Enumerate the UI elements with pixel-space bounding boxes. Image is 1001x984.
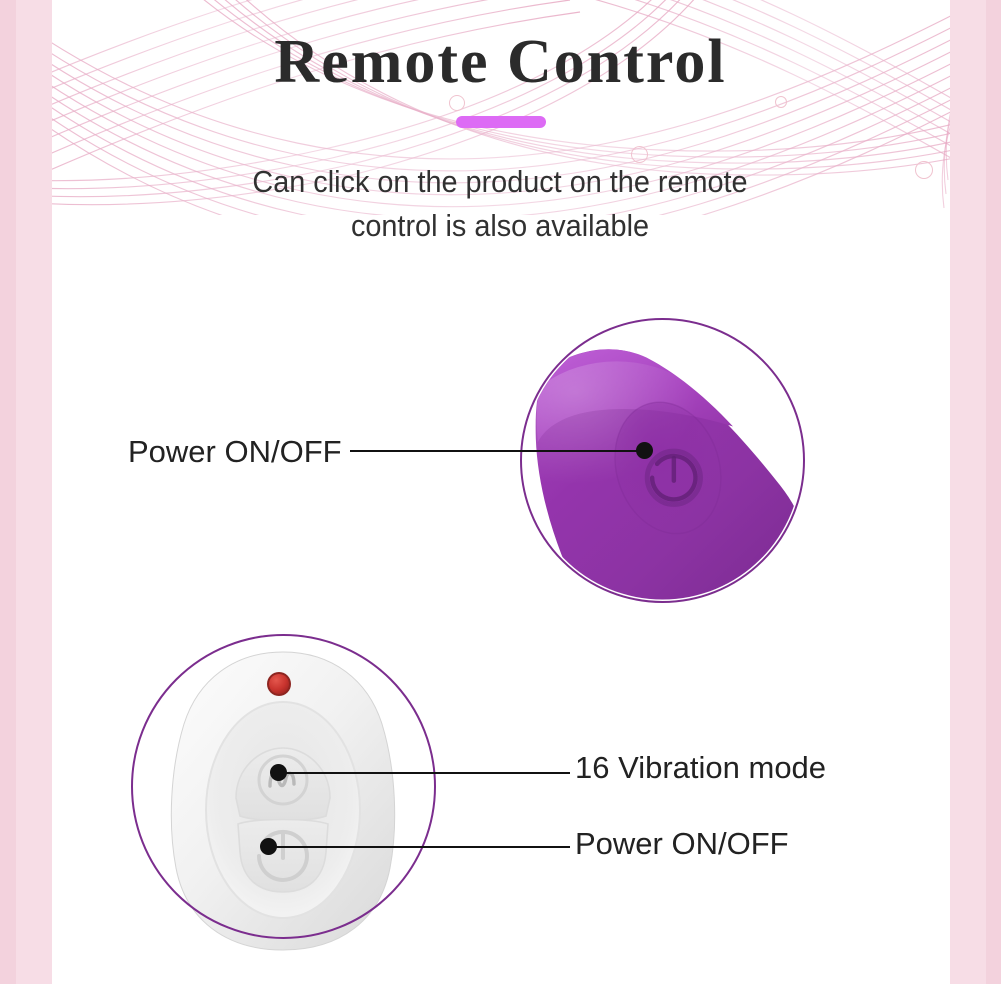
decorative-circle-icon <box>915 161 933 179</box>
callout-leader-line-top <box>350 450 645 452</box>
callout-dot-top <box>636 442 653 459</box>
title-accent-bar <box>456 116 546 128</box>
subtitle-line-1: Can click on the product on the remote <box>175 160 826 204</box>
callout-label-vibration: 16 Vibration mode <box>575 750 826 786</box>
callout-label-power-bottom: Power ON/OFF <box>575 826 789 862</box>
side-band-left-inner <box>0 0 16 984</box>
page-title: Remote Control <box>0 30 1001 95</box>
decorative-circle-icon <box>775 96 787 108</box>
remote-closeup-circle <box>131 634 436 939</box>
callout-leader-line-vibration <box>278 772 570 774</box>
product-closeup-circle <box>520 318 805 603</box>
callout-label-power-top: Power ON/OFF <box>128 434 342 470</box>
page-subtitle: Can click on the product on the remote c… <box>175 160 826 248</box>
side-band-right-inner <box>986 0 1001 984</box>
infographic-slide: Remote Control Can click on the product … <box>0 0 1001 984</box>
callout-dot-power <box>260 838 277 855</box>
callout-dot-vibration <box>270 764 287 781</box>
product-closeup-image <box>522 320 803 601</box>
decorative-circle-icon <box>449 95 465 111</box>
callout-leader-line-power <box>268 846 570 848</box>
subtitle-line-2: control is also available <box>175 204 826 248</box>
